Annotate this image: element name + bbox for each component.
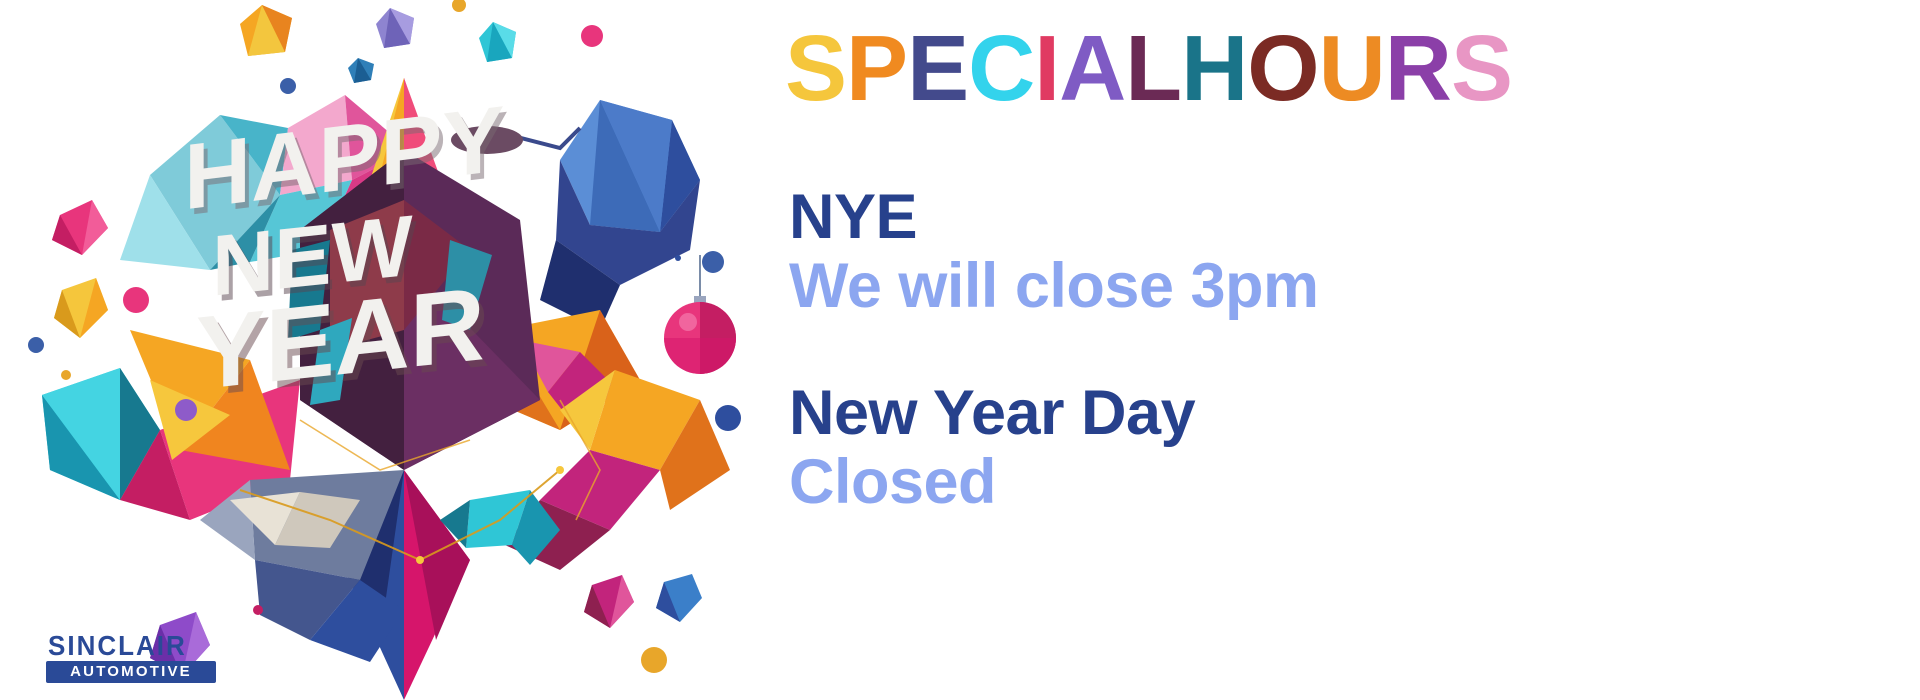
low-poly-burst-illustration: HAPPY NEW YEAR HAPPY NEW YEAR xyxy=(0,0,760,700)
dot-pink xyxy=(123,287,149,313)
headline-letter-s-12: S xyxy=(1451,16,1512,120)
hours-note-label: Closed xyxy=(789,447,1195,518)
hours-day-label: NYE xyxy=(789,186,1319,249)
dot-blue xyxy=(702,251,724,273)
headline-letter-i-4: I xyxy=(1034,16,1059,120)
special-hours-banner: HAPPY NEW YEAR HAPPY NEW YEAR SINCLAIR A… xyxy=(0,0,1920,700)
dot-blue xyxy=(715,405,741,431)
headline-letter-e-2: E xyxy=(907,16,968,120)
happy-new-year-artwork: HAPPY NEW YEAR HAPPY NEW YEAR SINCLAIR A… xyxy=(0,0,760,700)
headline-letter-h-8: H xyxy=(1181,16,1247,120)
dot-gold xyxy=(641,647,667,673)
page-title: SPECIALHOURS xyxy=(785,22,1512,115)
headline-letter-l-6: L xyxy=(1125,16,1181,120)
sinclair-automotive-logo: SINCLAIR AUTOMOTIVE xyxy=(46,632,236,683)
hours-entry-new-year-day: New Year Day Closed xyxy=(789,382,1195,518)
headline-letter-p-1: P xyxy=(846,16,907,120)
headline-letter-r-11: R xyxy=(1385,16,1451,120)
headline-letter-a-5: A xyxy=(1059,16,1125,120)
dot-blue xyxy=(28,337,44,353)
dot-gold xyxy=(61,370,71,380)
hours-day-label: New Year Day xyxy=(789,382,1195,445)
dot-pink xyxy=(581,25,603,47)
headline-letter-s-0: S xyxy=(785,16,846,120)
headline-letter-c-3: C xyxy=(968,16,1034,120)
hours-note-label: We will close 3pm xyxy=(789,251,1319,322)
headline-letter-u-10: U xyxy=(1319,16,1385,120)
dot-purple xyxy=(175,399,197,421)
dot-blue xyxy=(280,78,296,94)
hours-entry-nye: NYE We will close 3pm xyxy=(789,186,1319,322)
logo-bar: AUTOMOTIVE xyxy=(46,661,216,683)
headline-letter-o-9: O xyxy=(1247,16,1318,120)
logo-wordmark: SINCLAIR xyxy=(46,632,236,659)
hours-panel: SPECIALHOURS NYE We will close 3pm New Y… xyxy=(785,0,1920,700)
logo-subtext: AUTOMOTIVE xyxy=(54,664,208,679)
